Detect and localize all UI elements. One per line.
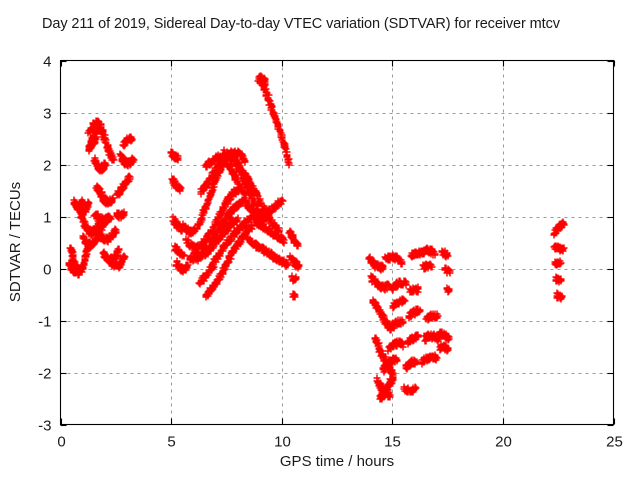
chart-page: Day 211 of 2019, Sidereal Day-to-day VTE… [0,0,640,480]
gridlines [61,61,614,425]
y-tick-label: -3 [38,418,51,435]
x-tick-label: 5 [167,434,175,451]
x-tick-label: 15 [384,434,401,451]
y-tick-label: 3 [43,106,51,123]
x-tick-label: 10 [274,434,291,451]
y-tick-label: 1 [43,210,51,227]
data-points [66,73,568,403]
x-tick-label: 25 [606,434,623,451]
x-axis-title: GPS time / hours [280,453,394,470]
tick-marks [61,61,615,426]
y-tick-label: -2 [38,366,51,383]
plot-frame [61,61,614,425]
x-tick-label: 0 [57,434,65,451]
y-tick-label: 2 [43,158,51,175]
data-point-markers [66,73,568,403]
y-tick-labels: -3-2-101234 [38,54,51,435]
y-axis-title: SDTVAR / TECUs [7,182,24,302]
x-tick-labels: 0510152025 [57,434,623,451]
scatter-chart: 0510152025 -3-2-101234 GPS time / hours … [0,0,640,480]
y-tick-label: -1 [38,314,51,331]
y-tick-label: 4 [43,54,51,71]
y-tick-label: 0 [43,262,51,279]
x-tick-label: 20 [495,434,512,451]
